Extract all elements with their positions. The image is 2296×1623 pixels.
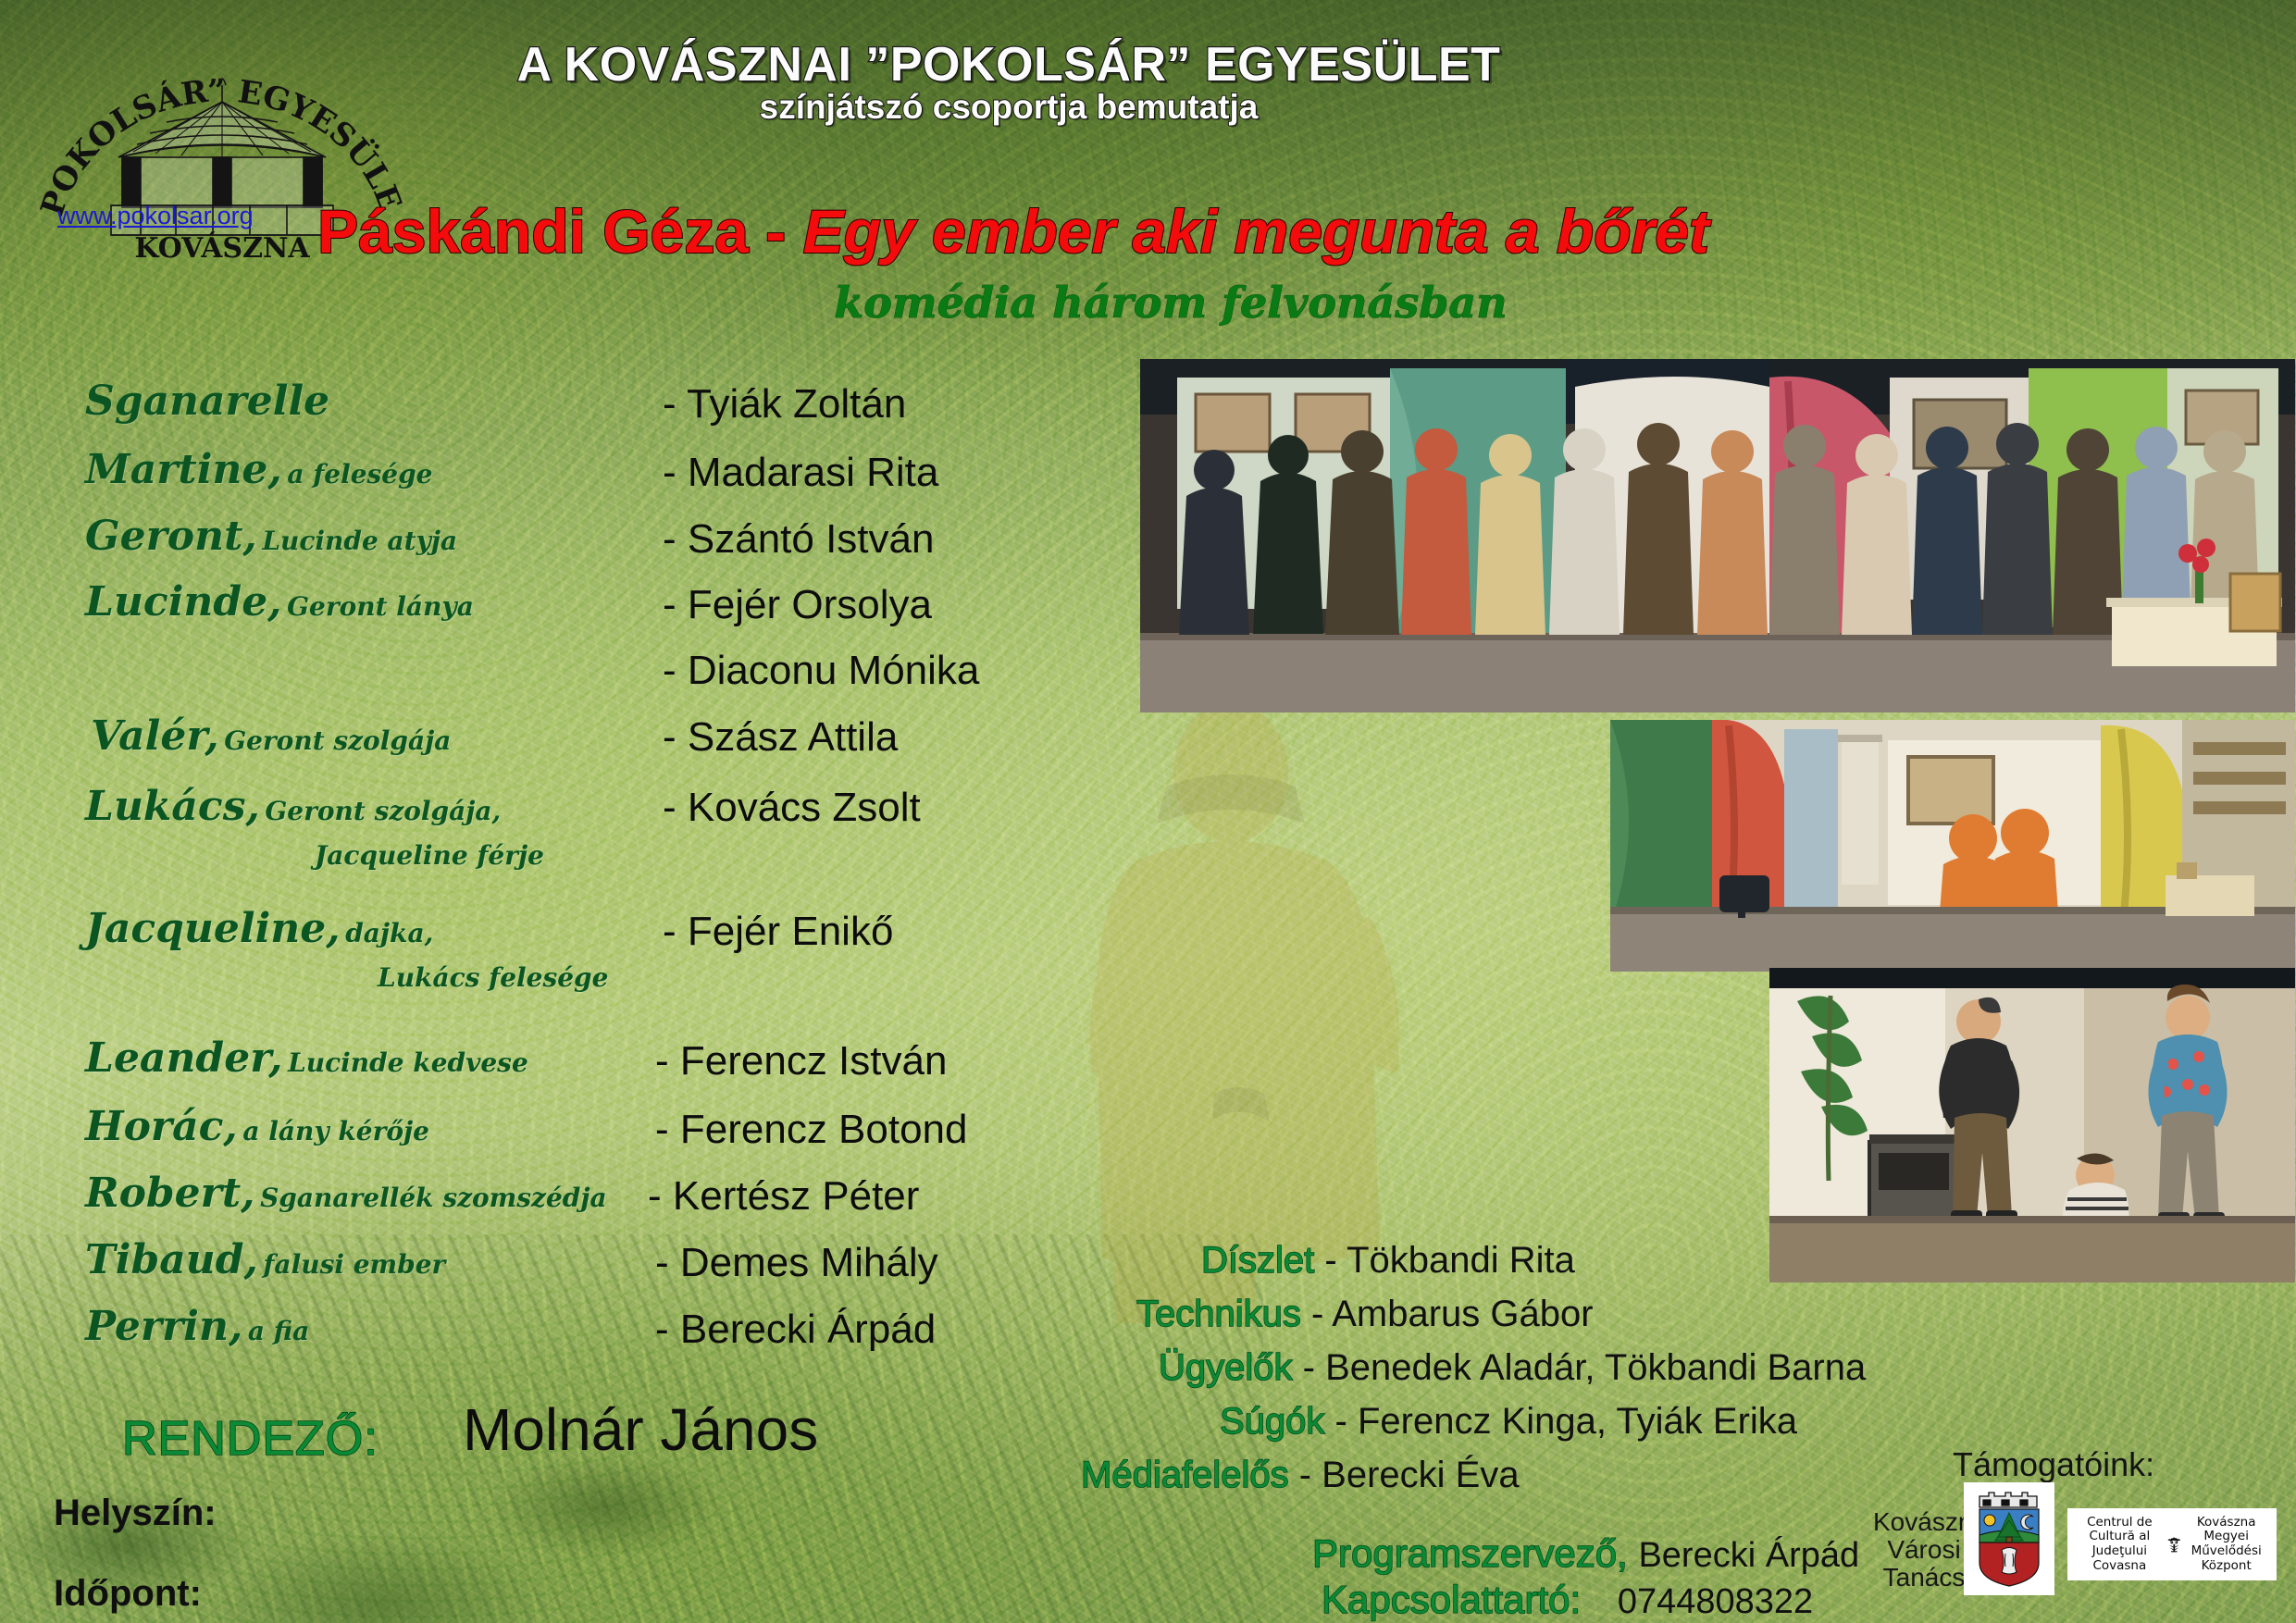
cast-role-0: Sganarelle [85, 378, 329, 425]
cast-actor-11: - Demes Mihály [655, 1240, 938, 1286]
crew-row-diszlet: Díszlet - Tökbandi Rita [1201, 1240, 1575, 1282]
cast-actor-10: - Kertész Péter [648, 1173, 919, 1220]
cast-role-9: Horác, a lány kérője [85, 1103, 429, 1150]
cast-actor-8: - Ferencz István [655, 1038, 947, 1084]
director-name: Molnár János [463, 1395, 818, 1464]
cast-role-7-line2: Lukács felesége [378, 962, 608, 993]
cast-actor-0: - Tyiák Zoltán [663, 381, 906, 427]
poster-canvas: „POKOLSÁR” EGYESÜLET [0, 0, 2296, 1623]
association-heading: A KOVÁSZNAI ”POKOLSÁR” EGYESÜLET [352, 37, 1666, 93]
ghost-figure-watermark [981, 685, 1499, 1332]
cast-actor-1: - Madarasi Rita [663, 450, 938, 496]
crew-row-sugok: Súgók - Ferencz Kinga, Tyiák Erika [1220, 1401, 1797, 1443]
cast-role-1: Martine, a felesége [85, 446, 433, 493]
cast-role-6: Lukács, Geront szolgája, [85, 783, 501, 830]
cast-actor-4: - Diaconu Mónika [663, 648, 979, 694]
sponsor-city-council-label: Kovászna Városi Tanács [1873, 1508, 1975, 1592]
cast-role-5: Valér, Geront szolgája [91, 712, 451, 760]
play-title-line: Páskándi Géza - Egy ember aki megunta a … [305, 196, 1721, 266]
organizer-row: Programszervező, Berecki Árpád [1312, 1531, 1859, 1576]
presents-subheading: színjátszó csoportja bemutatja [352, 88, 1666, 127]
cast-actor-2: - Szántó István [663, 516, 934, 563]
culture-center-logo: Centrul de Cultură al Judeţului Covasna … [2067, 1508, 2277, 1580]
cast-role-7: Jacqueline, dajka, [85, 905, 433, 952]
photo-cast-group [1140, 359, 2295, 712]
culture-center-ro-text: Centrul de Cultură al Judeţului Covasna [2073, 1516, 2166, 1574]
contact-row: Kapcsolattartó: 0744808322 [1322, 1578, 1813, 1622]
time-label: Időpont: [54, 1573, 202, 1615]
cast-actor-9: - Ferencz Botond [655, 1107, 968, 1153]
play-subtitle: komédia három felvonásban [648, 278, 1694, 328]
play-title: Egy ember aki megunta a bőrét [803, 197, 1709, 266]
cast-role-3: Lucinde, Geront lánya [85, 578, 474, 626]
crew-row-ugyelok: Ügyelők - Benedek Aladár, Tökbandi Barna [1159, 1347, 1866, 1389]
cast-role-12: Perrin, a fia [85, 1303, 309, 1350]
cast-role-11: Tibaud, falusi ember [85, 1236, 445, 1283]
cast-role-8: Leander, Lucinde kedvese [85, 1035, 528, 1082]
director-label: RENDEZŐ: [122, 1411, 379, 1467]
crew-row-technikus: Technikus - Ambarus Gábor [1136, 1294, 1594, 1335]
cast-role-2: Geront, Lucinde atyja [85, 513, 457, 560]
website-link[interactable]: www.pokolsar.org [57, 202, 254, 230]
kovaszna-coat-of-arms-icon [1964, 1482, 2054, 1595]
cast-actor-5: - Szász Attila [663, 714, 898, 761]
cast-actor-12: - Berecki Árpád [655, 1307, 936, 1353]
svg-text:KOVÁSZNA: KOVÁSZNA [134, 231, 310, 261]
play-author: Páskándi Géza - [317, 197, 803, 266]
photo-silhouette-scene [1610, 720, 2295, 972]
cast-actor-3: - Fejér Orsolya [663, 582, 932, 628]
cast-actor-6: - Kovács Zsolt [663, 785, 921, 831]
cast-actor-7: - Fejér Enikő [663, 909, 893, 955]
crew-row-mediafelelos: Médiafelelős - Berecki Éva [1081, 1455, 1520, 1496]
cast-role-10: Robert, Sganarellék szomszédja [85, 1170, 607, 1217]
culture-center-tree-icon [2166, 1521, 2182, 1567]
photo-two-actors [1769, 968, 2295, 1282]
culture-center-hu-text: Kovászna Megyei Művelődési Központ [2181, 1516, 2271, 1574]
sponsors-title: Támogatóink: [1953, 1445, 2154, 1484]
cast-role-6-line2: Jacqueline férje [315, 840, 544, 871]
venue-label: Helyszín: [54, 1493, 217, 1534]
